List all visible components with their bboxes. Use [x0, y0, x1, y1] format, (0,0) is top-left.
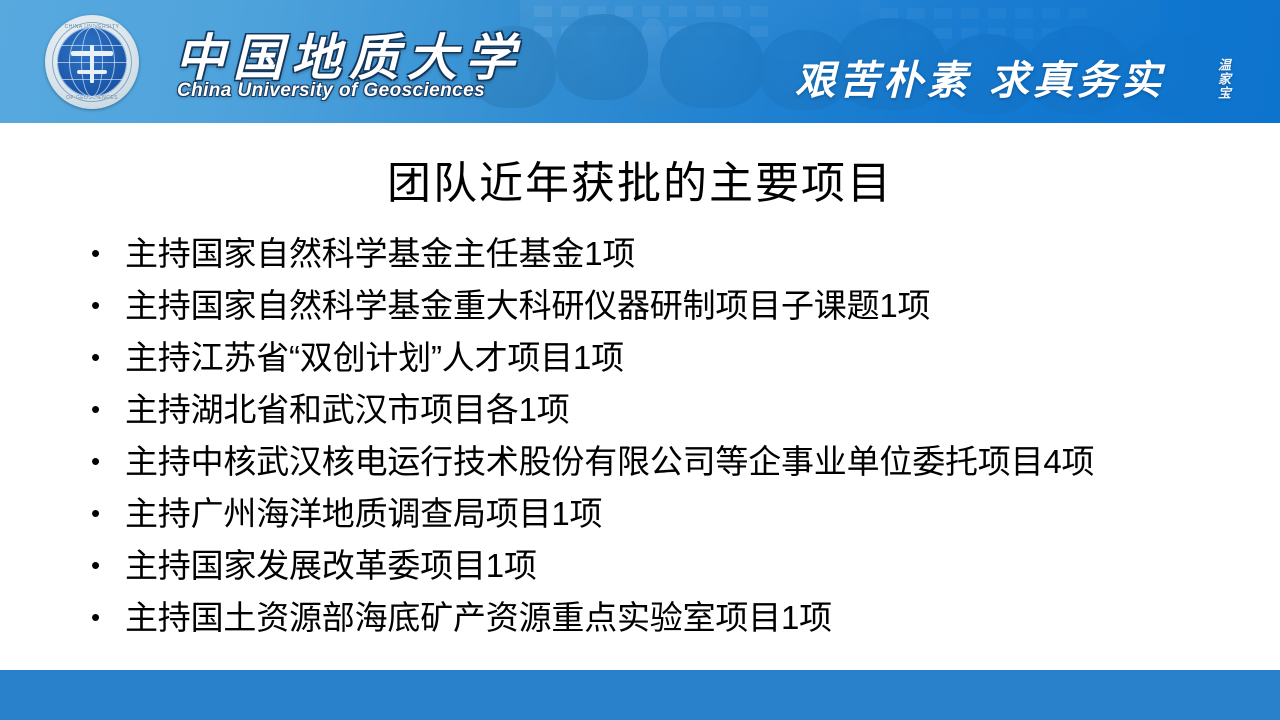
list-item-label: 主持国家自然科学基金主任基金1项: [125, 228, 1268, 280]
university-emblem-icon: CHINA UNIVERSITY OF GEOSCIENCES: [45, 15, 139, 109]
list-item: • 主持国家发展改革委项目1项: [88, 540, 1268, 592]
list-item: • 主持中核武汉核电运行技术股份有限公司等企事业单位委托项目4项: [88, 436, 1268, 488]
list-item: • 主持江苏省“双创计划”人才项目1项: [88, 332, 1268, 384]
list-item-label: 主持江苏省“双创计划”人才项目1项: [125, 332, 1268, 384]
bullet-point-icon: •: [88, 436, 125, 486]
bullet-point-icon: •: [88, 280, 125, 330]
list-item-label: 主持湖北省和武汉市项目各1项: [125, 384, 1268, 436]
list-item-label: 主持国家自然科学基金重大科研仪器研制项目子课题1项: [125, 280, 1268, 332]
bullet-point-icon: •: [88, 488, 125, 538]
list-item: • 主持国家自然科学基金主任基金1项: [88, 228, 1268, 280]
list-item: • 主持湖北省和武汉市项目各1项: [88, 384, 1268, 436]
motto-signature: 温家宝: [1205, 58, 1229, 100]
bullet-point-icon: •: [88, 384, 125, 434]
list-item: • 主持国土资源部海底矿产资源重点实验室项目1项: [88, 592, 1268, 644]
slide-header-banner: CHINA UNIVERSITY OF GEOSCIENCES 中国地质大学 C…: [0, 0, 1280, 123]
list-item: • 主持广州海洋地质调查局项目1项: [88, 488, 1268, 540]
emblem-globe-icon: [57, 27, 127, 97]
page-title: 团队近年获批的主要项目: [0, 147, 1280, 211]
list-item-label: 主持国家发展改革委项目1项: [125, 540, 1268, 592]
bullet-point-icon: •: [88, 540, 125, 590]
university-name-english: China University of Geosciences: [177, 80, 485, 102]
bullet-point-icon: •: [88, 228, 125, 278]
list-item-label: 主持广州海洋地质调查局项目1项: [125, 488, 1268, 540]
bullet-point-icon: •: [88, 332, 125, 382]
list-item-label: 主持中核武汉核电运行技术股份有限公司等企事业单位委托项目4项: [125, 436, 1268, 488]
project-list: • 主持国家自然科学基金主任基金1项 • 主持国家自然科学基金重大科研仪器研制项…: [88, 228, 1268, 644]
presentation-slide: CHINA UNIVERSITY OF GEOSCIENCES 中国地质大学 C…: [0, 0, 1280, 720]
list-item: • 主持国家自然科学基金重大科研仪器研制项目子课题1项: [88, 280, 1268, 332]
slide-footer-bar: [0, 670, 1280, 720]
bullet-point-icon: •: [88, 592, 125, 642]
list-item-label: 主持国土资源部海底矿产资源重点实验室项目1项: [125, 592, 1268, 644]
university-motto: 艰苦朴素 求真务实: [795, 48, 1165, 106]
